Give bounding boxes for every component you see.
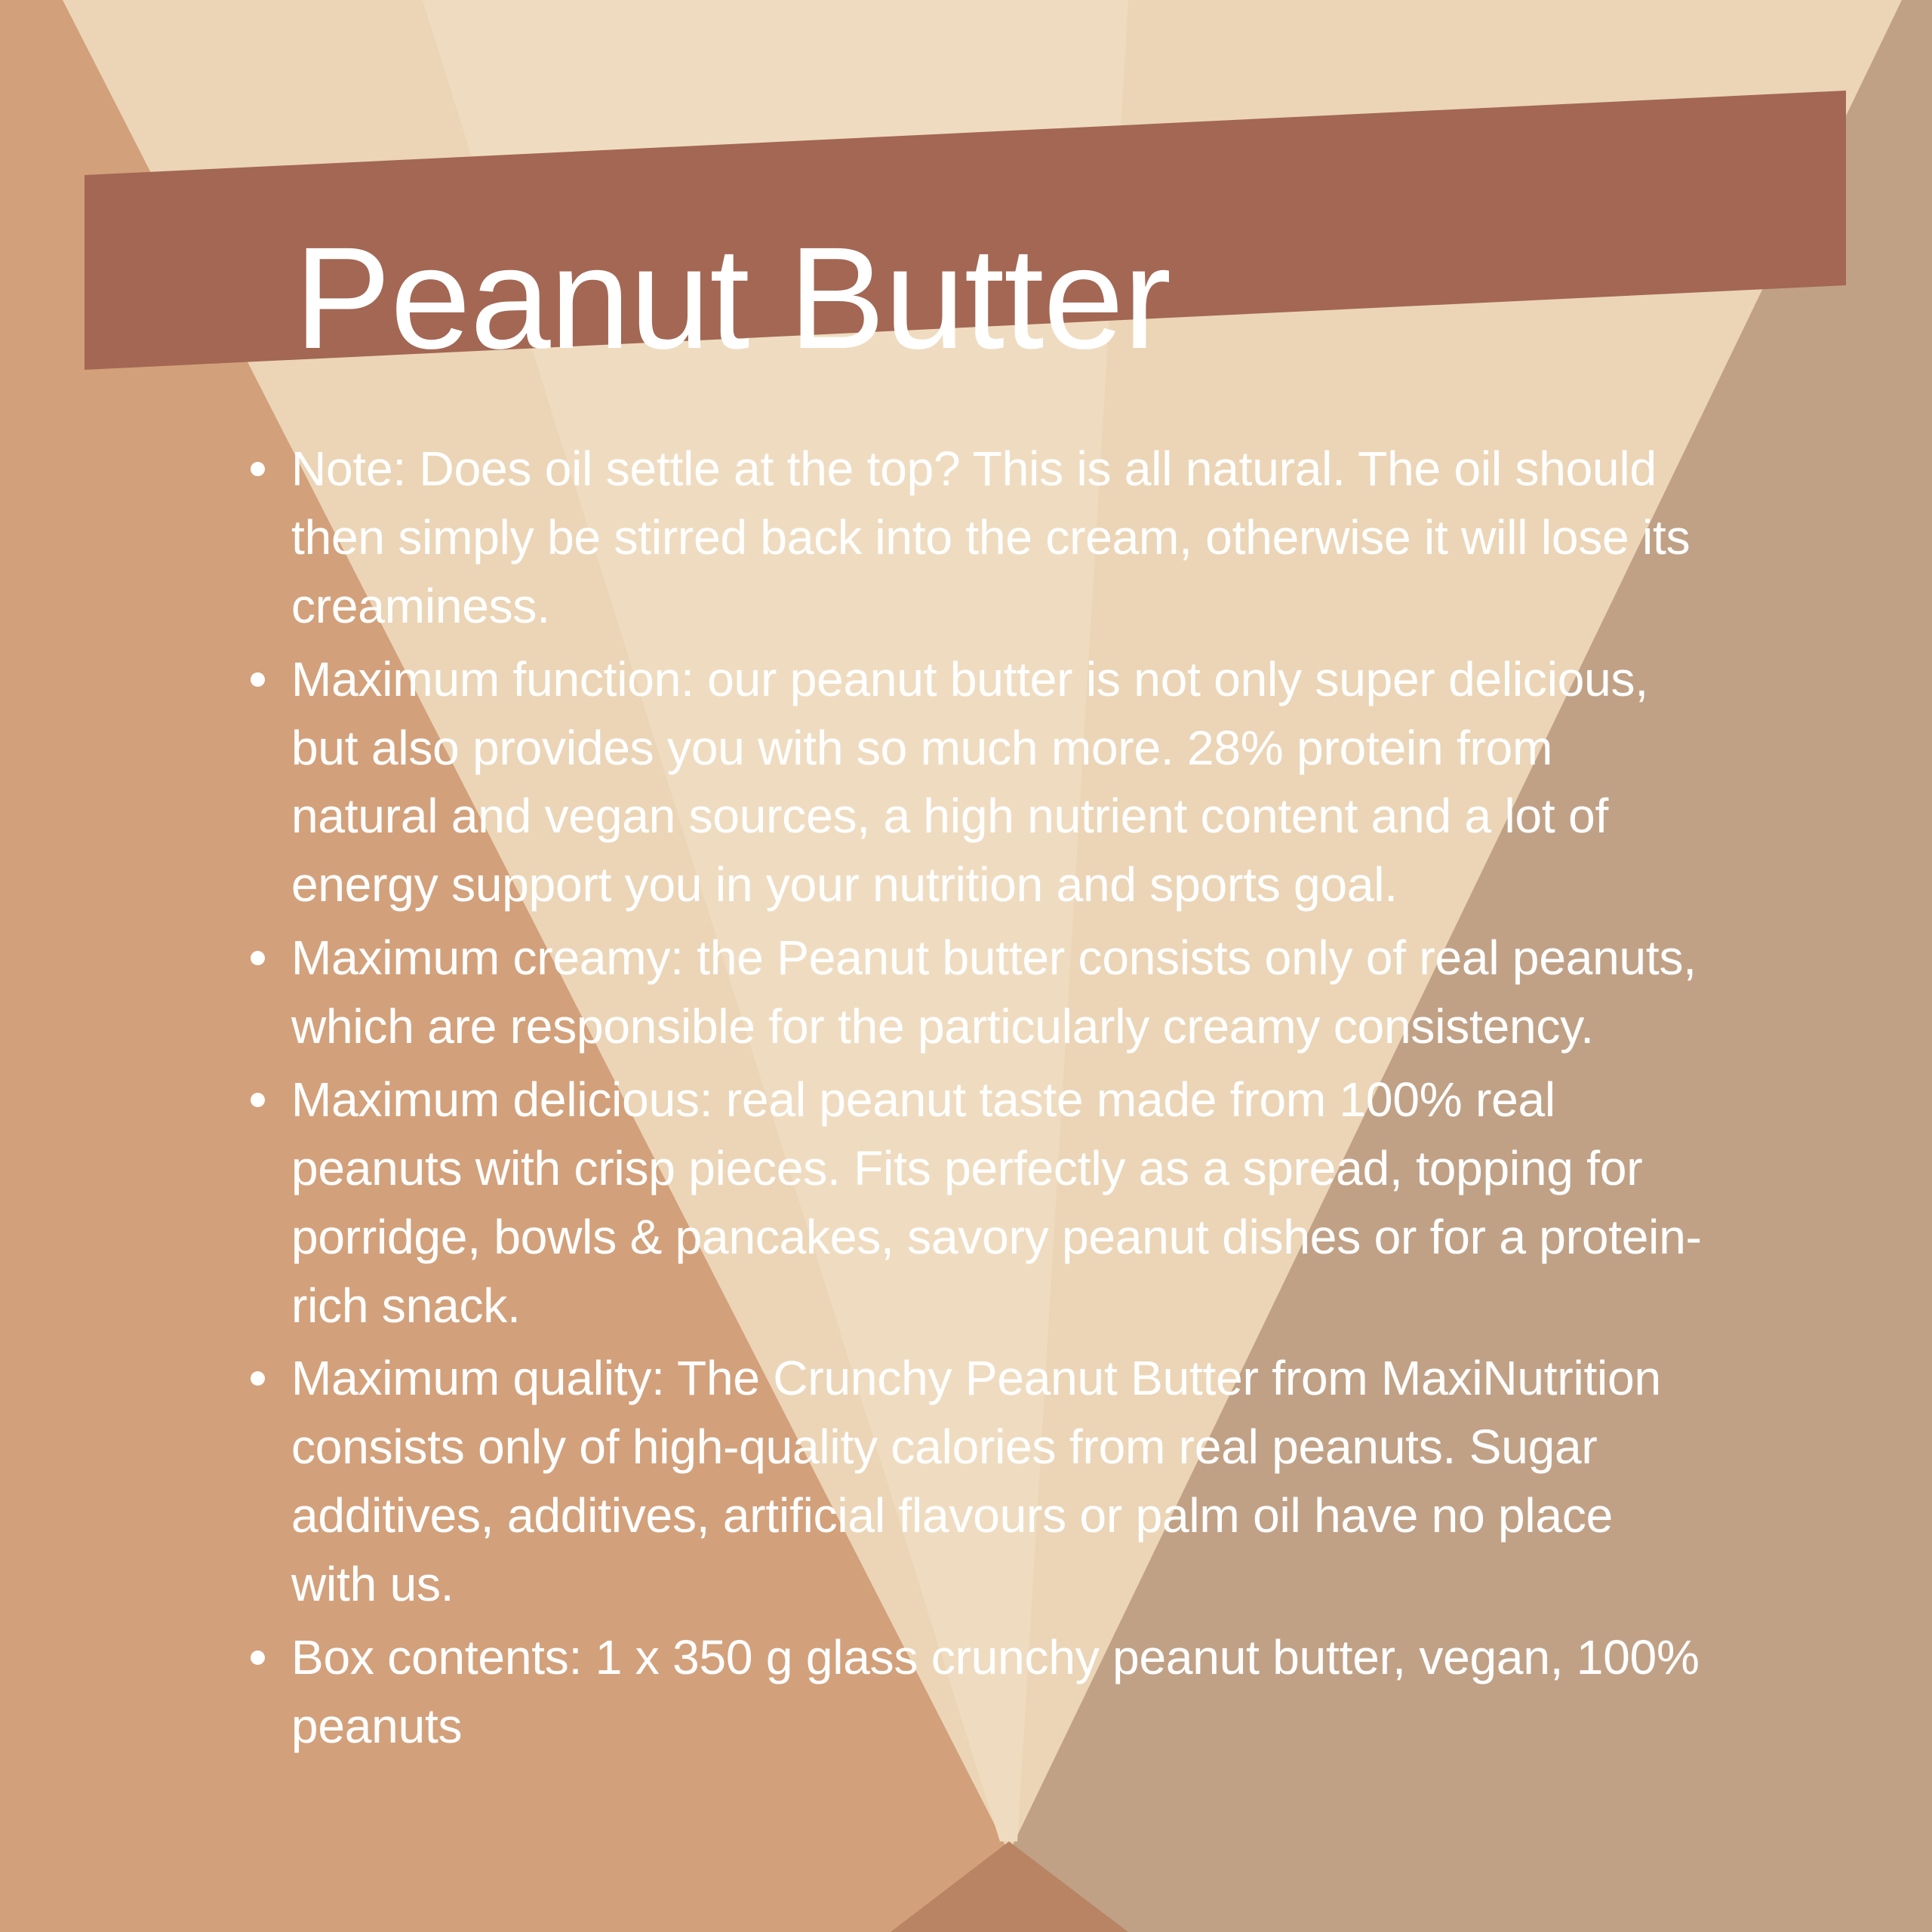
list-item: Maximum creamy: the Peanut butter consis… <box>243 924 1707 1061</box>
poster-canvas: Peanut Butter Note: Does oil settle at t… <box>0 0 1932 1932</box>
feature-list: Note: Does oil settle at the top? This i… <box>243 435 1707 1765</box>
list-item-text: Maximum creamy: the Peanut butter consis… <box>291 924 1707 1061</box>
bullet-point-icon <box>251 462 265 476</box>
bullet-point-icon <box>251 1093 265 1107</box>
bullet-point-icon <box>251 951 265 965</box>
list-item-text: Maximum function: our peanut butter is n… <box>291 645 1707 920</box>
list-item: Maximum quality: The Crunchy Peanut Butt… <box>243 1344 1707 1619</box>
list-item-text: Maximum quality: The Crunchy Peanut Butt… <box>291 1344 1707 1619</box>
bullet-point-icon <box>251 1651 265 1665</box>
list-item-text: Box contents: 1 x 350 g glass crunchy pe… <box>291 1623 1707 1761</box>
list-item: Maximum function: our peanut butter is n… <box>243 645 1707 920</box>
bullet-point-icon <box>251 672 265 687</box>
list-item-text: Note: Does oil settle at the top? This i… <box>291 435 1707 641</box>
list-item: Box contents: 1 x 350 g glass crunchy pe… <box>243 1623 1707 1761</box>
bullet-point-icon <box>251 1371 265 1386</box>
list-item: Note: Does oil settle at the top? This i… <box>243 435 1707 641</box>
list-item-text: Maximum delicious: real peanut taste mad… <box>291 1066 1707 1340</box>
list-item: Maximum delicious: real peanut taste mad… <box>243 1066 1707 1340</box>
